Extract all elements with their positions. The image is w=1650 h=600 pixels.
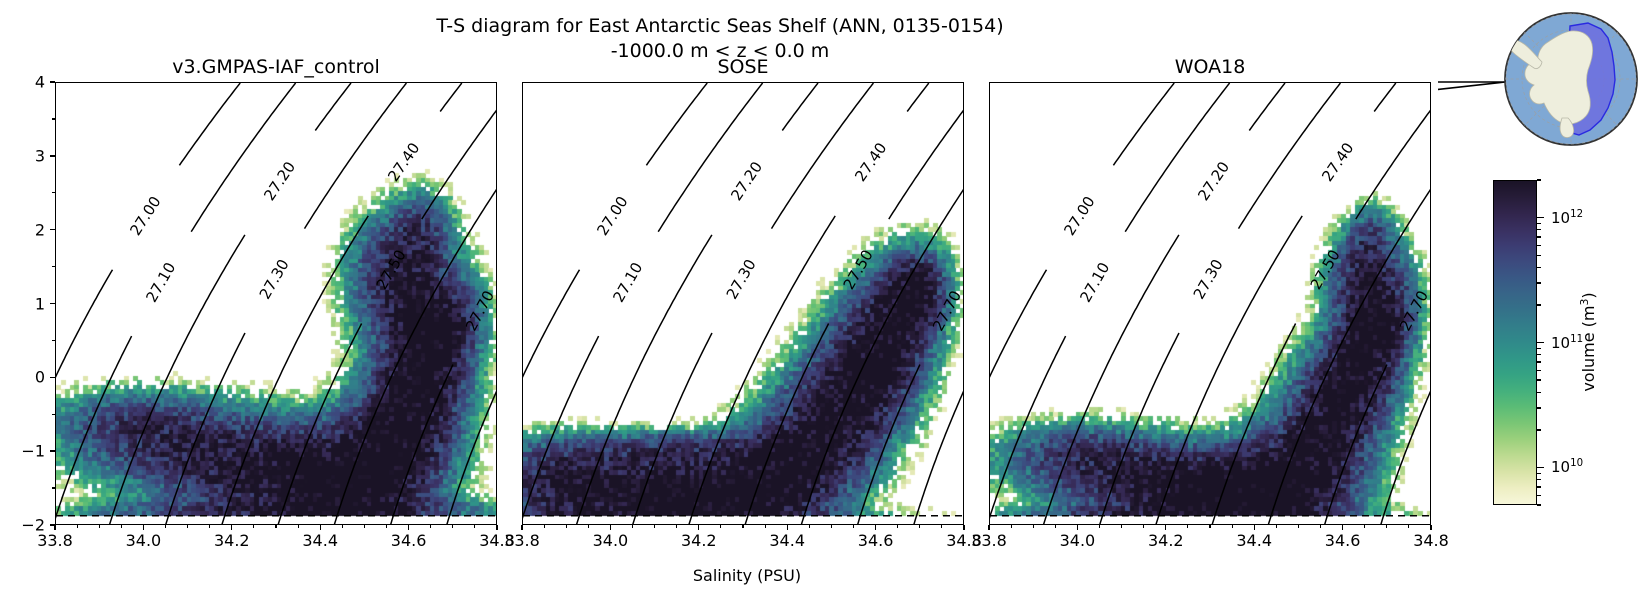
y-tick-label: 2 — [0, 220, 45, 239]
x-minor-tick-mark — [897, 525, 898, 528]
density-contours — [56, 83, 497, 525]
y-tick-label: 0 — [0, 368, 45, 387]
x-minor-tick-mark — [1408, 525, 1409, 528]
x-tick-label: 33.8 — [504, 531, 540, 550]
x-tick-mark — [1077, 525, 1078, 530]
x-tick-label: 34.2 — [1148, 531, 1184, 550]
x-tick-mark — [875, 525, 876, 530]
inset-connector-line-2 — [1438, 82, 1505, 164]
colorbar-minor-tick-mark — [1537, 407, 1541, 408]
colorbar-minor-tick-mark — [1537, 504, 1541, 505]
density-contours — [990, 83, 1431, 525]
contour-overlay-woa18: 27.0027.1027.2027.3027.4027.5027.70 — [990, 83, 1431, 525]
contour-label: 27.30 — [723, 256, 760, 302]
colorbar-minor-tick-mark — [1537, 361, 1541, 362]
x-minor-tick-mark — [1187, 525, 1188, 528]
contour-label: 27.40 — [1318, 139, 1357, 185]
x-minor-tick-mark — [632, 525, 633, 528]
x-minor-tick-mark — [1099, 525, 1100, 528]
x-tick-mark — [1342, 525, 1343, 530]
colorbar-tick-mark — [1537, 342, 1544, 343]
colorbar-tick-label: 1010 — [1551, 458, 1583, 476]
x-minor-tick-mark — [544, 525, 545, 528]
colorbar-minor-tick-mark — [1537, 267, 1541, 268]
x-minor-tick-mark — [831, 525, 832, 528]
colorbar-minor-tick-mark — [1537, 354, 1541, 355]
y-tick-mark — [50, 155, 55, 156]
x-minor-tick-mark — [209, 525, 210, 528]
contour-overlay-sose: 27.0027.1027.2027.3027.4027.5027.70 — [523, 83, 964, 525]
y-tick-mark — [50, 377, 55, 378]
x-tick-label: 34.6 — [391, 531, 427, 550]
x-minor-tick-mark — [1386, 525, 1387, 528]
contour-label: 27.20 — [727, 158, 766, 204]
contour-label: 27.00 — [126, 193, 164, 239]
x-minor-tick-mark — [1011, 525, 1012, 528]
colorbar-minor-tick-mark — [1537, 236, 1541, 237]
colorbar-minor-tick-mark — [1537, 473, 1541, 474]
x-tick-label: 34.0 — [593, 531, 629, 550]
colorbar-minor-tick-mark — [1537, 429, 1541, 430]
x-minor-tick-mark — [121, 525, 122, 528]
x-minor-tick-mark — [342, 525, 343, 528]
x-minor-tick-mark — [1298, 525, 1299, 528]
contour-label: 27.70 — [462, 288, 497, 334]
y-tick-label: −1 — [0, 442, 45, 461]
x-tick-label: 34.6 — [858, 531, 894, 550]
y-tick-mark — [50, 81, 55, 82]
colorbar-minor-tick-mark — [1537, 479, 1541, 480]
y-tick-label: 3 — [0, 146, 45, 165]
x-tick-mark — [1430, 525, 1431, 530]
x-tick-mark — [143, 525, 144, 530]
x-minor-tick-mark — [452, 525, 453, 528]
x-minor-tick-mark — [1320, 525, 1321, 528]
x-tick-label: 34.8 — [1413, 531, 1449, 550]
suptitle-line-1: T-S diagram for East Antarctic Seas Shel… — [436, 15, 1003, 37]
x-tick-mark — [521, 525, 522, 530]
y-tick-mark — [50, 229, 55, 230]
panel-title-sose: SOSE — [522, 56, 964, 78]
contour-label: 27.00 — [1060, 193, 1098, 239]
y-tick-label: 4 — [0, 73, 45, 92]
contour-label: 27.50 — [840, 247, 877, 293]
x-minor-tick-mark — [1055, 525, 1056, 528]
x-tick-mark — [231, 525, 232, 530]
x-minor-tick-mark — [187, 525, 188, 528]
contour-label: 27.30 — [1190, 256, 1227, 302]
x-tick-mark — [1165, 525, 1166, 530]
x-minor-tick-mark — [386, 525, 387, 528]
contour-label: 27.10 — [1076, 259, 1113, 305]
contour-label: 27.20 — [1194, 158, 1233, 204]
x-tick-mark — [963, 525, 964, 530]
y-minor-tick-mark — [52, 118, 55, 119]
contour-overlay-model: 27.0027.1027.2027.3027.4027.5027.70 — [56, 83, 497, 525]
contour-label: 27.30 — [256, 256, 293, 302]
inset-map-svg — [1438, 4, 1641, 164]
x-minor-tick-mark — [809, 525, 810, 528]
density-contours — [523, 83, 964, 525]
x-minor-tick-mark — [1143, 525, 1144, 528]
x-minor-tick-mark — [720, 525, 721, 528]
contour-label: 27.50 — [373, 247, 410, 293]
contour-label: 27.70 — [1396, 288, 1431, 334]
x-tick-label: 34.0 — [126, 531, 162, 550]
colorbar-minor-tick-mark — [1537, 486, 1541, 487]
colorbar-minor-tick-mark — [1537, 255, 1541, 256]
x-tick-label: 33.8 — [37, 531, 73, 550]
axes-panel-woa18[interactable]: 27.0027.1027.2027.3027.4027.5027.70 — [989, 82, 1431, 525]
x-minor-tick-mark — [1121, 525, 1122, 528]
x-tick-mark — [1254, 525, 1255, 530]
y-tick-mark — [50, 303, 55, 304]
x-minor-tick-mark — [364, 525, 365, 528]
x-minor-tick-mark — [588, 525, 589, 528]
x-tick-label: 34.0 — [1060, 531, 1096, 550]
x-tick-label: 34.4 — [769, 531, 805, 550]
x-tick-label: 34.6 — [1325, 531, 1361, 550]
y-minor-tick-mark — [52, 192, 55, 193]
colorbar-tick-mark — [1537, 217, 1544, 218]
colorbar-minor-tick-mark — [1537, 223, 1541, 224]
x-minor-tick-mark — [1033, 525, 1034, 528]
colorbar-gradient — [1494, 181, 1536, 504]
x-axis-label: Salinity (PSU) — [247, 566, 1247, 585]
x-minor-tick-mark — [474, 525, 475, 528]
x-minor-tick-mark — [1276, 525, 1277, 528]
colorbar-minor-tick-mark — [1537, 379, 1541, 380]
x-tick-mark — [988, 525, 989, 530]
contour-label: 27.70 — [929, 288, 964, 334]
contour-label: 27.20 — [260, 158, 299, 204]
x-tick-mark — [787, 525, 788, 530]
y-minor-tick-mark — [52, 414, 55, 415]
contour-label: 27.40 — [851, 139, 890, 185]
colorbar-minor-tick-mark — [1537, 370, 1541, 371]
x-minor-tick-mark — [654, 525, 655, 528]
x-minor-tick-mark — [298, 525, 299, 528]
x-minor-tick-mark — [99, 525, 100, 528]
x-tick-label: 33.8 — [971, 531, 1007, 550]
colorbar-minor-tick-mark — [1537, 495, 1541, 496]
x-minor-tick-mark — [676, 525, 677, 528]
colorbar-minor-tick-mark — [1537, 245, 1541, 246]
colorbar-tick-label: 1012 — [1551, 209, 1583, 227]
x-tick-mark — [408, 525, 409, 530]
x-tick-mark — [320, 525, 321, 530]
x-minor-tick-mark — [1232, 525, 1233, 528]
y-minor-tick-mark — [52, 266, 55, 267]
x-minor-tick-mark — [1364, 525, 1365, 528]
contour-label: 27.10 — [609, 259, 646, 305]
x-minor-tick-mark — [941, 525, 942, 528]
colorbar-label: volume (m3) — [1578, 292, 1598, 391]
x-minor-tick-mark — [566, 525, 567, 528]
panel-title-model: v3.GMPAS-IAF_control — [55, 56, 497, 78]
x-minor-tick-mark — [765, 525, 766, 528]
x-minor-tick-mark — [430, 525, 431, 528]
x-minor-tick-mark — [165, 525, 166, 528]
x-minor-tick-mark — [742, 525, 743, 528]
contour-label: 27.00 — [593, 193, 631, 239]
x-minor-tick-mark — [1209, 525, 1210, 528]
x-tick-label: 34.4 — [302, 531, 338, 550]
x-tick-mark — [698, 525, 699, 530]
colorbar-tick-mark — [1537, 467, 1544, 468]
y-minor-tick-mark — [52, 487, 55, 488]
colorbar-minor-tick-mark — [1537, 304, 1541, 305]
colorbar-minor-tick-mark — [1537, 229, 1541, 230]
x-tick-mark — [610, 525, 611, 530]
axes-panel-sose[interactable]: 27.0027.1027.2027.3027.4027.5027.70 — [522, 82, 964, 525]
x-minor-tick-mark — [919, 525, 920, 528]
x-tick-label: 34.4 — [1236, 531, 1272, 550]
y-tick-label: 1 — [0, 294, 45, 313]
colorbar-minor-tick-mark — [1537, 179, 1541, 180]
contour-label: 27.50 — [1307, 247, 1344, 293]
x-tick-mark — [54, 525, 55, 530]
x-minor-tick-mark — [853, 525, 854, 528]
ts-diagram-figure: T-S diagram for East Antarctic Seas Shel… — [0, 0, 1650, 600]
x-minor-tick-mark — [275, 525, 276, 528]
panel-title-woa18: WOA18 — [989, 56, 1431, 78]
x-tick-label: 34.2 — [214, 531, 250, 550]
x-tick-mark — [496, 525, 497, 530]
x-tick-label: 34.2 — [681, 531, 717, 550]
axes-panel-model[interactable]: 27.0027.1027.2027.3027.4027.5027.70 — [55, 82, 497, 525]
colorbar-minor-tick-mark — [1537, 348, 1541, 349]
contour-label: 27.10 — [142, 259, 179, 305]
x-minor-tick-mark — [77, 525, 78, 528]
colorbar-minor-tick-mark — [1537, 392, 1541, 393]
y-tick-mark — [50, 450, 55, 451]
antarctic-region-inset[interactable] — [1438, 4, 1641, 164]
colorbar-minor-tick-mark — [1537, 282, 1541, 283]
y-minor-tick-mark — [52, 340, 55, 341]
x-minor-tick-mark — [253, 525, 254, 528]
colorbar[interactable] — [1493, 180, 1537, 505]
contour-label: 27.40 — [384, 139, 423, 185]
